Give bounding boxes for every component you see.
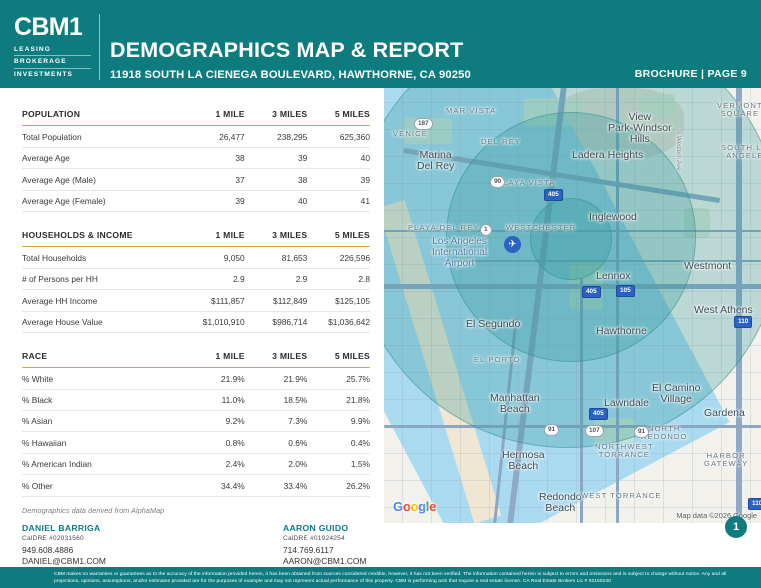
column-header: 1 MILE: [182, 346, 245, 368]
table-row: Total Households9,05081,653226,596: [22, 247, 370, 268]
table-title: RACE: [22, 346, 182, 368]
table-title: POPULATION: [22, 104, 182, 126]
property-address: 11918 SOUTH LA CIENEGA BOULEVARD, HAWTHO…: [110, 69, 471, 81]
map-neighborhood-label: PLAYA VISTA: [497, 179, 556, 187]
map-city-label: HermosaBeach: [502, 450, 545, 472]
column-header: 1 MILE: [182, 225, 245, 247]
row-label: % Asian: [22, 411, 182, 432]
row-value: $125,105: [307, 290, 370, 311]
table-row: % Other34.4%33.4%26.2%: [22, 475, 370, 496]
page-header: CBM1 LEASING BROKERAGE INVESTMENTS DEMOG…: [0, 0, 761, 88]
company-logo: CBM1 LEASING BROKERAGE INVESTMENTS: [14, 14, 100, 80]
row-label: Average House Value: [22, 311, 182, 332]
demographics-tables: POPULATION1 MILE3 MILES5 MILESTotal Popu…: [22, 104, 370, 515]
logo-line-brokerage: BROKERAGE: [14, 56, 91, 69]
table-row: Average Age (Female)394041: [22, 190, 370, 211]
google-logo: Google: [393, 499, 436, 514]
row-label: # of Persons per HH: [22, 268, 182, 289]
row-label: Average HH Income: [22, 290, 182, 311]
logo-wordmark: CBM1: [14, 14, 91, 40]
title-block: DEMOGRAPHICS MAP & REPORT 11918 SOUTH LA…: [110, 38, 471, 81]
row-value: 625,360: [307, 126, 370, 147]
map-neighborhood-label: MAR VISTA: [446, 107, 496, 115]
data-source-note: Demographics data derived from AlphaMap: [22, 506, 370, 515]
table-row: Total Population26,477238,295625,360: [22, 126, 370, 147]
table-header-row: HOUSEHOLDS & INCOME1 MILE3 MILES5 MILES: [22, 225, 370, 247]
map-city-label: Inglewood: [589, 212, 637, 223]
map-highway-shield-90: 90: [490, 176, 505, 188]
table-households-income: HOUSEHOLDS & INCOME1 MILE3 MILES5 MILEST…: [22, 225, 370, 333]
row-value: 238,295: [245, 126, 308, 147]
map-highway-shield-187: 187: [414, 118, 433, 130]
map-neighborhood-label: DEL REY: [481, 138, 521, 146]
row-value: 2.4%: [182, 453, 245, 474]
row-value: 9.2%: [182, 411, 245, 432]
row-value: 11.0%: [182, 389, 245, 410]
row-value: 41: [307, 190, 370, 211]
map-city-label: Westmont: [684, 261, 731, 272]
row-label: % White: [22, 368, 182, 389]
row-value: 21.9%: [245, 368, 308, 389]
column-header: 1 MILE: [182, 104, 245, 126]
map-neighborhood-label: PLAYA DEL REY: [408, 224, 480, 232]
table-race: RACE1 MILE3 MILES5 MILES% White21.9%21.9…: [22, 346, 370, 497]
contact-card-daniel-barriga: DANIEL BARRIGA CalDRE #02031560 949.608.…: [22, 523, 106, 566]
row-label: Total Households: [22, 247, 182, 268]
row-value: 2.8: [307, 268, 370, 289]
row-value: 33.4%: [245, 475, 308, 496]
contact-phone[interactable]: 949.608.4886: [22, 545, 106, 555]
map-city-label: El Segundo: [466, 319, 520, 330]
row-value: 40: [245, 190, 308, 211]
table-row: % Hawaiian0.8%0.6%0.4%: [22, 432, 370, 453]
map-highway-shield-105: 105: [616, 285, 635, 297]
row-value: 21.9%: [182, 368, 245, 389]
map-highway-shield-110: 110: [734, 316, 752, 328]
map-neighborhood-label: NORTHWESTTORRANCE: [595, 443, 654, 459]
page-title: DEMOGRAPHICS MAP & REPORT: [110, 38, 471, 63]
row-value: 39: [245, 147, 308, 168]
row-value: 7.3%: [245, 411, 308, 432]
map-neighborhood-label: WESTCHESTER: [506, 224, 576, 232]
row-value: 2.0%: [245, 453, 308, 474]
map-city-label: ViewPark-WindsorHills: [608, 112, 672, 145]
table-population: POPULATION1 MILE3 MILES5 MILESTotal Popu…: [22, 104, 370, 212]
row-value: 37: [182, 169, 245, 190]
brochure-page: CBM1 LEASING BROKERAGE INVESTMENTS DEMOG…: [0, 0, 761, 588]
table-row: Average Age (Male)373839: [22, 169, 370, 190]
contact-email[interactable]: DANIEL@CBM1.COM: [22, 556, 106, 566]
column-header: 3 MILES: [245, 104, 308, 126]
page-indicator: BROCHURE | PAGE 9: [635, 68, 747, 80]
row-value: $1,010,910: [182, 311, 245, 332]
row-value: 9.9%: [307, 411, 370, 432]
map-city-label: ManhattanBeach: [490, 393, 540, 415]
demographics-map[interactable]: ✈ MarinaDel ReyLadera HeightsViewPark-Wi…: [384, 88, 761, 523]
contact-name: AARON GUIDO: [283, 523, 366, 533]
row-value: 1.5%: [307, 453, 370, 474]
contact-card-aaron-guido: AARON GUIDO CalDRE #01924254 714.769.611…: [283, 523, 366, 566]
row-label: Average Age (Female): [22, 190, 182, 211]
corner-badge: 1: [725, 516, 747, 538]
map-neighborhood-label: EL PORTO: [474, 356, 521, 364]
map-highway-shield-405: 405: [544, 189, 563, 201]
airplane-icon: ✈: [504, 236, 521, 253]
map-highway-shield-405: 405: [589, 408, 608, 420]
row-label: % Other: [22, 475, 182, 496]
map-neighborhood-label: WEST TORRANCE: [581, 492, 662, 500]
map-grid-line: [384, 480, 761, 481]
table-row: % Black11.0%18.5%21.8%: [22, 389, 370, 410]
map-street-label: S Western Ave: [675, 130, 682, 171]
row-value: 39: [307, 169, 370, 190]
table-header-row: POPULATION1 MILE3 MILES5 MILES: [22, 104, 370, 126]
row-label: Total Population: [22, 126, 182, 147]
map-attribution: Map data ©2026 Google: [676, 511, 757, 520]
logo-line-investments: INVESTMENTS: [14, 69, 91, 81]
row-value: 26.2%: [307, 475, 370, 496]
row-label: % Black: [22, 389, 182, 410]
column-header: 3 MILES: [245, 225, 308, 247]
row-value: 38: [182, 147, 245, 168]
row-value: 0.6%: [245, 432, 308, 453]
row-value: 0.8%: [182, 432, 245, 453]
map-neighborhood-label: VERMONTSQUARE: [717, 102, 761, 118]
row-label: % American Indian: [22, 453, 182, 474]
legal-disclaimer: CBM makes no warranties or guarantees as…: [0, 567, 761, 588]
map-highway-shield-1: 1: [480, 224, 492, 236]
map-city-label: West Athens: [694, 305, 753, 316]
row-value: 39: [182, 190, 245, 211]
row-value: $1,036,642: [307, 311, 370, 332]
table-row: % Asian9.2%7.3%9.9%: [22, 411, 370, 432]
row-value: 226,596: [307, 247, 370, 268]
map-highway-shield-107: 107: [585, 425, 604, 437]
row-value: $112,849: [245, 290, 308, 311]
map-city-label: MarinaDel Rey: [417, 150, 454, 172]
logo-service-lines: LEASING BROKERAGE INVESTMENTS: [14, 43, 91, 80]
row-value: 2.9: [182, 268, 245, 289]
map-highway-shield-405: 405: [582, 286, 601, 298]
contact-license: CalDRE #01924254: [283, 535, 366, 542]
row-label: Average Age (Male): [22, 169, 182, 190]
contact-email[interactable]: AARON@CBM1.COM: [283, 556, 366, 566]
map-neighborhood-label: VENICE: [393, 130, 428, 138]
column-header: 5 MILES: [307, 346, 370, 368]
row-value: 26,477: [182, 126, 245, 147]
map-airport-label: Los AngelesInternationalAirport: [432, 236, 487, 270]
table-row: # of Persons per HH2.92.92.8: [22, 268, 370, 289]
map-city-label: Ladera Heights: [572, 150, 643, 161]
row-value: 40: [307, 147, 370, 168]
contact-name: DANIEL BARRIGA: [22, 523, 106, 533]
logo-line-leasing: LEASING: [14, 43, 91, 56]
map-city-label: Hawthorne: [596, 326, 647, 337]
contact-footer: DANIEL BARRIGA CalDRE #02031560 949.608.…: [0, 523, 761, 567]
row-label: % Hawaiian: [22, 432, 182, 453]
map-city-label: Gardena: [704, 408, 745, 419]
row-value: 81,653: [245, 247, 308, 268]
table-row: Average Age383940: [22, 147, 370, 168]
contact-phone[interactable]: 714.769.6117: [283, 545, 366, 555]
row-value: 34.4%: [182, 475, 245, 496]
row-value: 18.5%: [245, 389, 308, 410]
column-header: 5 MILES: [307, 225, 370, 247]
table-row: Average HH Income$111,857$112,849$125,10…: [22, 290, 370, 311]
row-value: 0.4%: [307, 432, 370, 453]
map-city-label: Lawndale: [604, 398, 649, 409]
map-city-label: RedondoBeach: [539, 492, 582, 514]
contact-license: CalDRE #02031560: [22, 535, 106, 542]
map-highway-shield-110: 110: [748, 498, 761, 510]
row-value: $986,714: [245, 311, 308, 332]
map-city-label: Lennox: [596, 271, 630, 282]
table-header-row: RACE1 MILE3 MILES5 MILES: [22, 346, 370, 368]
table-row: % White21.9%21.9%25.7%: [22, 368, 370, 389]
map-neighborhood-label: SOUTH LOSANGELES: [721, 144, 761, 160]
row-value: $111,857: [182, 290, 245, 311]
row-value: 2.9: [245, 268, 308, 289]
row-value: 9,050: [182, 247, 245, 268]
table-row: Average House Value$1,010,910$986,714$1,…: [22, 311, 370, 332]
table-row: % American Indian2.4%2.0%1.5%: [22, 453, 370, 474]
column-header: 3 MILES: [245, 346, 308, 368]
row-label: Average Age: [22, 147, 182, 168]
row-value: 25.7%: [307, 368, 370, 389]
row-value: 21.8%: [307, 389, 370, 410]
map-highway-shield-91: 91: [544, 424, 559, 436]
row-value: 38: [245, 169, 308, 190]
map-highway-shield-91: 91: [634, 426, 649, 438]
column-header: 5 MILES: [307, 104, 370, 126]
table-title: HOUSEHOLDS & INCOME: [22, 225, 182, 247]
map-city-label: El CaminoVillage: [652, 383, 700, 405]
map-neighborhood-label: HARBORGATEWAY: [704, 452, 748, 468]
